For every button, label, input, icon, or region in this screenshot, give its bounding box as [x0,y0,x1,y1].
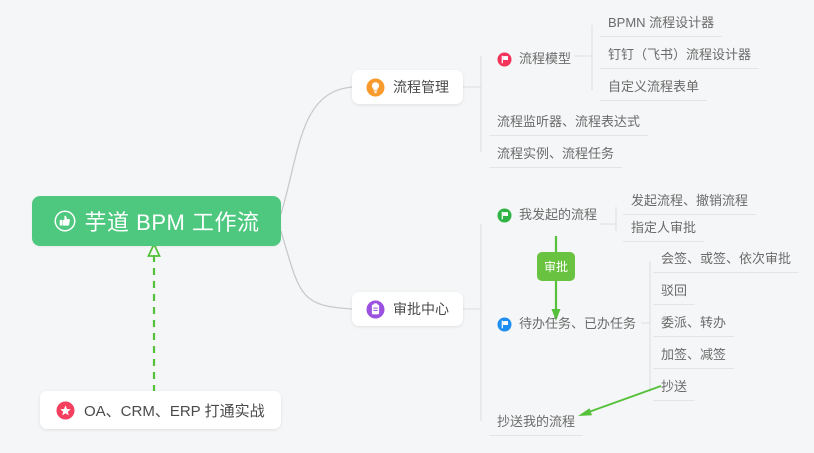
topic-add-remove-sign[interactable]: 加签、减签 [653,343,734,369]
topic-label-process-model: 流程模型 [519,51,571,67]
flag-green-icon [497,208,512,223]
topic-label-todo-done-tasks: 待办任务、已办任务 [519,316,636,332]
topic-label-dingtalk-feishu-designer: 钉钉（飞书）流程设计器 [608,47,751,63]
topic-my-initiated-process[interactable]: 我发起的流程 [489,203,605,228]
root-node[interactable]: 芋道 BPM 工作流 [32,196,281,246]
topic-counter-or-sequential-sign[interactable]: 会签、或签、依次审批 [653,247,799,273]
star-icon [56,401,75,420]
approval-tag-label: 审批 [544,258,568,275]
topic-process-listener-expression[interactable]: 流程监听器、流程表达式 [489,110,648,136]
topic-cc-to-me-process[interactable]: 抄送我的流程 [489,410,583,436]
topic-dingtalk-feishu-designer[interactable]: 钉钉（飞书）流程设计器 [600,43,759,69]
topic-process-instance-task[interactable]: 流程实例、流程任务 [489,142,622,168]
approval-tag-node[interactable]: 审批 [537,252,575,281]
topic-label-process-listener-expression: 流程监听器、流程表达式 [497,114,640,130]
topic-assignee-approval[interactable]: 指定人审批 [623,216,704,242]
thumbs-up-icon [54,210,76,232]
branch-label-approval-center: 审批中心 [393,299,449,319]
topic-bpmn-designer[interactable]: BPMN 流程设计器 [600,11,722,37]
topic-start-cancel-process[interactable]: 发起流程、撤销流程 [623,189,756,215]
topic-carbon-copy[interactable]: 抄送 [653,375,695,401]
topic-label-my-initiated-process: 我发起的流程 [519,207,597,223]
topic-label-reject: 驳回 [661,283,687,299]
topic-label-counter-or-sequential-sign: 会签、或签、依次审批 [661,251,791,267]
lightbulb-icon [366,78,385,97]
topic-label-delegate-transfer: 委派、转办 [661,315,726,331]
note-label: OA、CRM、ERP 打通实战 [84,400,265,421]
branch-node-process-management[interactable]: 流程管理 [352,70,463,104]
topic-label-start-cancel-process: 发起流程、撤销流程 [631,193,748,209]
flag-red-icon [497,52,512,67]
branch-node-approval-center[interactable]: 审批中心 [352,292,463,326]
topic-label-carbon-copy: 抄送 [661,379,687,395]
branch-label-process-management: 流程管理 [393,77,449,97]
topic-custom-process-form[interactable]: 自定义流程表单 [600,75,707,101]
topic-label-add-remove-sign: 加签、减签 [661,347,726,363]
note-node-integration[interactable]: OA、CRM、ERP 打通实战 [40,391,281,429]
topic-todo-done-tasks[interactable]: 待办任务、已办任务 [489,312,644,337]
topic-label-custom-process-form: 自定义流程表单 [608,79,699,95]
topic-delegate-transfer[interactable]: 委派、转办 [653,311,734,337]
topic-reject[interactable]: 驳回 [653,279,695,305]
clipboard-icon [366,300,385,319]
topic-process-model[interactable]: 流程模型 [489,47,579,72]
root-label: 芋道 BPM 工作流 [85,205,260,237]
topic-label-cc-to-me-process: 抄送我的流程 [497,414,575,430]
topic-label-process-instance-task: 流程实例、流程任务 [497,146,614,162]
topic-label-assignee-approval: 指定人审批 [631,220,696,236]
topic-label-bpmn-designer: BPMN 流程设计器 [608,15,714,31]
mindmap-canvas: 芋道 BPM 工作流 流程管理 流程模型 BPMN 流程设计器 钉钉（飞书 [0,0,814,453]
flag-blue-icon [497,317,512,332]
